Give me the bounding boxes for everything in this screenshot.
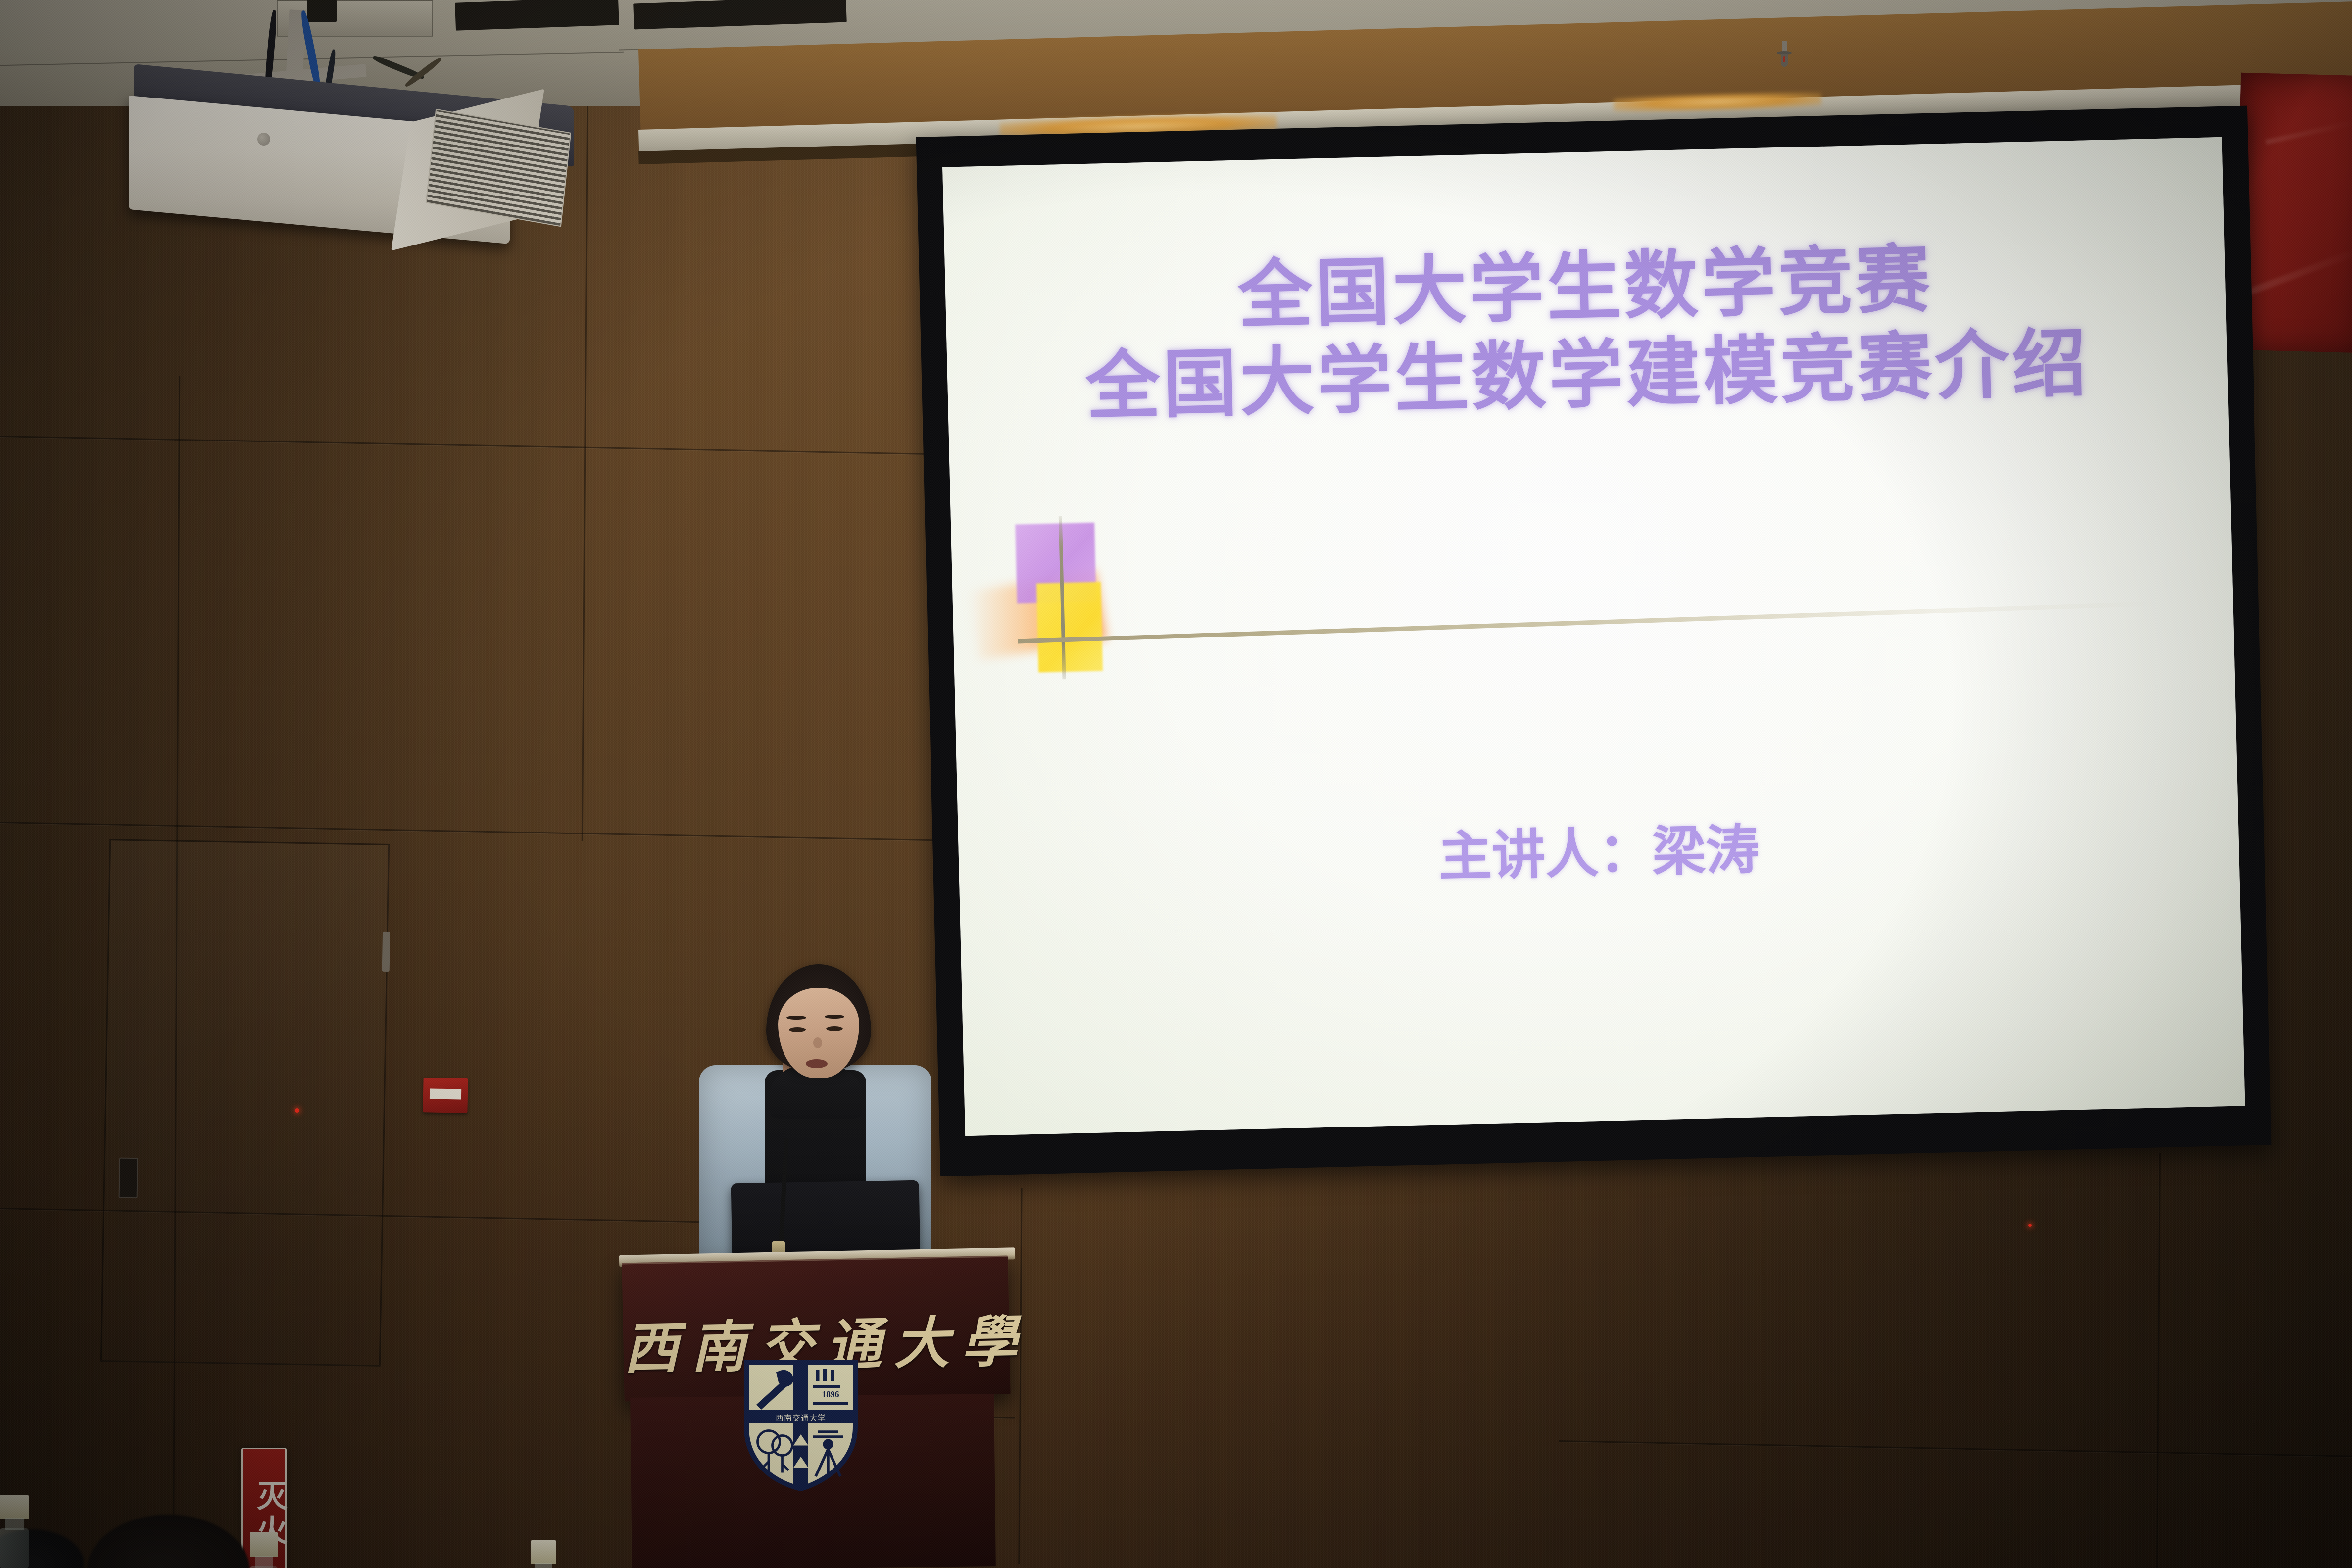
presenter-nose — [813, 1037, 822, 1048]
wall-indicator-led — [295, 1108, 299, 1113]
presentation-slide: 全国大学生数学竞赛 全国大学生数学建模竞赛介绍 主讲人：梁涛 — [942, 137, 2245, 1136]
water-bottle — [250, 1532, 278, 1568]
projector-indicator-dot — [257, 133, 270, 146]
decor-horizontal-rule — [1018, 601, 2156, 643]
lecture-hall-photo: 全国大学生数学竞赛 全国大学生数学建模竞赛介绍 主讲人：梁涛 — [0, 0, 2352, 1568]
water-bottle — [531, 1540, 556, 1568]
presenter-mouth — [806, 1059, 828, 1068]
presenter-eyebrow-right — [825, 1015, 844, 1019]
university-emblem: 1896 西南交通大学 — [739, 1355, 863, 1494]
fire-alarm-label — [429, 1089, 461, 1100]
presenter-eye-left — [789, 1027, 806, 1032]
wall-door[interactable] — [100, 839, 390, 1367]
presenter-eyebrow-left — [786, 1016, 806, 1020]
projection-screen: 全国大学生数学竞赛 全国大学生数学建模竞赛介绍 主讲人：梁涛 — [916, 106, 2272, 1176]
svg-text:1896: 1896 — [822, 1389, 839, 1399]
presenter-eye-right — [826, 1026, 843, 1031]
ceiling-projector — [94, 10, 648, 243]
lectern-podium: 西南交通大學 1896 — [616, 1237, 1027, 1568]
screen-surface: 全国大学生数学竞赛 全国大学生数学建模竞赛介绍 主讲人：梁涛 — [942, 137, 2245, 1136]
slide-decoration — [942, 137, 2245, 1136]
fire-sprinkler-icon — [1777, 41, 1792, 70]
door-hinge — [382, 932, 390, 972]
door-handle[interactable] — [119, 1158, 138, 1199]
fire-alarm-box[interactable] — [423, 1078, 468, 1113]
wall-indicator-led — [2028, 1224, 2032, 1227]
decor-yellow-square — [1036, 582, 1103, 672]
water-bottle — [0, 1495, 29, 1568]
svg-text:西南交通大学: 西南交通大学 — [776, 1414, 826, 1423]
